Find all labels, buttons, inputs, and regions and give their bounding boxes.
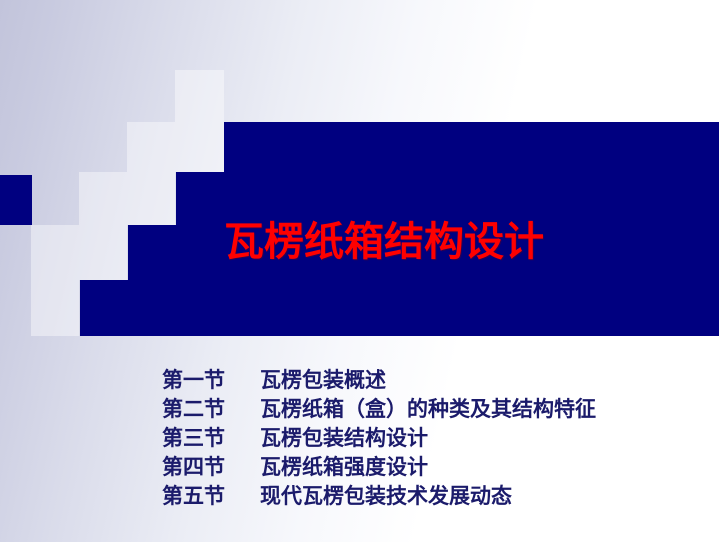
toc-number: 第五节 [162, 482, 260, 511]
toc-number: 第三节 [162, 424, 260, 453]
mosaic-tile-6 [31, 225, 79, 280]
toc-line: 第五节现代瓦楞包装技术发展动态 [162, 482, 702, 511]
slide-canvas: 瓦楞纸箱结构设计 第一节瓦楞包装概述 第二节瓦楞纸箱（盒）的种类及其结构特征 第… [0, 0, 719, 542]
toc-line: 第二节瓦楞纸箱（盒）的种类及其结构特征 [162, 395, 702, 424]
toc-label: 瓦楞包装概述 [260, 369, 386, 392]
navy-block-detached [0, 175, 32, 225]
toc-label: 瓦楞纸箱强度设计 [260, 456, 428, 479]
toc-line: 第四节瓦楞纸箱强度设计 [162, 453, 702, 482]
mosaic-tile-4 [79, 172, 127, 225]
toc-label: 现代瓦楞包装技术发展动态 [260, 485, 512, 508]
mosaic-tile-7 [79, 225, 127, 280]
navy-block-row-1 [224, 122, 719, 173]
toc-line: 第三节瓦楞包装结构设计 [162, 424, 702, 453]
mosaic-tile-3 [175, 122, 224, 172]
toc-number: 第二节 [162, 395, 260, 424]
mosaic-tile-1 [175, 70, 224, 122]
toc-label: 瓦楞包装结构设计 [260, 427, 428, 450]
toc-label: 瓦楞纸箱（盒）的种类及其结构特征 [260, 398, 596, 421]
mosaic-tile-5 [127, 172, 175, 225]
toc-number: 第一节 [162, 366, 260, 395]
navy-block-row-4 [80, 280, 719, 336]
slide-title: 瓦楞纸箱结构设计 [224, 218, 554, 266]
toc-line: 第一节瓦楞包装概述 [162, 366, 702, 395]
toc-number: 第四节 [162, 453, 260, 482]
mosaic-tile-8 [31, 280, 79, 336]
mosaic-tile-2 [127, 122, 175, 172]
table-of-contents: 第一节瓦楞包装概述 第二节瓦楞纸箱（盒）的种类及其结构特征 第三节瓦楞包装结构设… [162, 366, 702, 511]
